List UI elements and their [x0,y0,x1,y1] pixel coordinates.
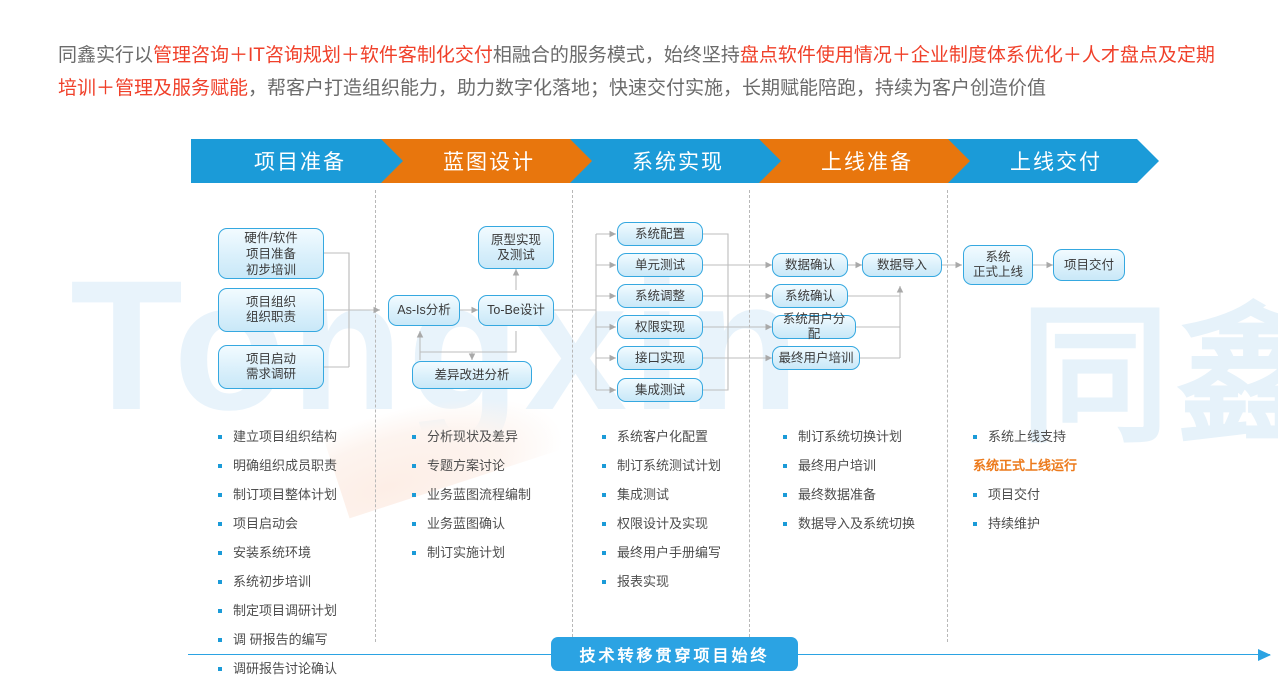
list-item: 制订系统切换计划 [783,428,915,445]
node-project-organization[interactable]: 项目组织 组织职责 [218,288,324,332]
list-item: 最终数据准备 [783,486,915,503]
list-item: 最终用户手册编写 [602,544,721,561]
node-line: 差异改进分析 [430,368,513,383]
node-system-configuration[interactable]: 系统配置 [617,222,703,246]
list-item: 项目启动会 [218,515,337,532]
phase-chevron-label: 系统实现 [626,146,724,176]
list-item-label: 制订系统切换计划 [798,428,902,445]
node-line: 初步培训 [244,262,297,278]
bullet-square-icon [602,493,606,497]
list-item-label: 制订系统测试计划 [617,457,721,474]
node-integration-test[interactable]: 集成测试 [617,378,703,402]
node-as-is-analysis[interactable]: As-Is分析 [388,295,460,326]
node-line: 需求调研 [246,367,296,382]
deliverables-list-col5: 系统上线支持系统正式上线运行项目交付持续维护 [973,428,1077,544]
list-item: 项目交付 [973,486,1077,503]
list-item-label: 项目交付 [988,486,1040,503]
list-item-label: 专题方案讨论 [427,457,505,474]
list-item: 系统正式上线运行 [973,457,1077,474]
node-line: 数据导入 [873,258,931,273]
bullet-square-icon [412,551,416,555]
bullet-square-icon [783,522,787,526]
node-line: 接口实现 [631,351,689,366]
phase-chevron-label: 蓝图设计 [437,146,535,176]
bullet-square-icon [412,435,416,439]
list-item: 集成测试 [602,486,721,503]
node-system-user-assignment[interactable]: 系统用户分配 [772,315,856,339]
intro-segment-1: 同鑫实行以 [58,45,153,66]
node-line: 系统 [973,250,1023,265]
list-item: 安装系统环境 [218,544,337,561]
bullet-square-icon [218,638,222,642]
column-divider-1 [375,190,376,642]
list-item-label: 调研报告讨论确认 [233,660,337,677]
list-item: 调研报告讨论确认 [218,660,337,677]
bullet-square-icon [218,464,222,468]
list-item: 明确组织成员职责 [218,457,337,474]
intro-paragraph: 同鑫实行以管理咨询＋IT咨询规划＋软件客制化交付相融合的服务模式，始终坚持盘点软… [58,39,1228,105]
bullet-square-icon [973,493,977,497]
node-data-import[interactable]: 数据导入 [862,253,942,277]
node-project-delivery[interactable]: 项目交付 [1053,249,1125,281]
list-item: 制订系统测试计划 [602,457,721,474]
technology-transfer-label: 技术转移贯穿项目始终 [551,637,798,671]
phase-banner: 项目准备蓝图设计系统实现上线准备上线交付 [191,139,1192,183]
node-to-be-design[interactable]: To-Be设计 [478,295,554,326]
node-line: 系统用户分配 [773,312,855,342]
node-gap-improvement-analysis[interactable]: 差异改进分析 [412,361,532,389]
phase-chevron-4[interactable]: 上线准备 [758,139,970,183]
list-item-label: 业务蓝图确认 [427,515,505,532]
list-item: 最终用户培训 [783,457,915,474]
intro-highlight-1: 管理咨询＋IT咨询规划＋软件客制化交付 [153,45,493,66]
deliverables-list-col2: 分析现状及差异专题方案讨论业务蓝图流程编制业务蓝图确认制订实施计划 [412,428,531,573]
column-divider-4 [947,190,948,642]
node-line: 系统确认 [781,289,839,304]
list-item: 制定项目调研计划 [218,602,337,619]
bullet-square-icon [783,435,787,439]
list-item-label: 权限设计及实现 [617,515,708,532]
list-item-label: 分析现状及差异 [427,428,518,445]
phase-chevron-label: 上线交付 [1004,146,1102,176]
bullet-square-icon [218,551,222,555]
list-item-label: 最终数据准备 [798,486,876,503]
list-item: 数据导入及系统切换 [783,515,915,532]
node-system-confirmation[interactable]: 系统确认 [772,284,848,308]
list-item: 调 研报告的编写 [218,631,337,648]
node-line: 项目组织 [246,295,296,310]
node-unit-test[interactable]: 单元测试 [617,253,703,277]
list-item: 建立项目组织结构 [218,428,337,445]
list-item-label: 建立项目组织结构 [233,428,337,445]
node-line: 项目交付 [1060,258,1118,273]
phase-chevron-5[interactable]: 上线交付 [947,139,1159,183]
phase-chevron-3[interactable]: 系统实现 [569,139,781,183]
list-item: 系统初步培训 [218,573,337,590]
node-line: 集成测试 [631,383,689,398]
node-line: As-Is分析 [393,303,454,318]
bullet-square-icon [783,493,787,497]
phase-chevron-label: 项目准备 [248,146,346,176]
bullet-square-icon [602,580,606,584]
node-interface-implementation[interactable]: 接口实现 [617,346,703,370]
list-item-label: 制订项目整体计划 [233,486,337,503]
list-item-label: 调 研报告的编写 [233,631,328,648]
node-hardware-software-prep[interactable]: 硬件/软件 项目准备 初步培训 [218,228,324,279]
node-line: 正式上线 [973,265,1023,280]
node-line: 系统调整 [631,289,689,304]
list-item-label: 业务蓝图流程编制 [427,486,531,503]
phase-chevron-label: 上线准备 [815,146,913,176]
node-line: 及测试 [491,248,541,263]
column-divider-2 [572,190,573,642]
list-item: 制订实施计划 [412,544,531,561]
bullet-square-icon [412,493,416,497]
node-line: 数据确认 [781,258,839,273]
bullet-square-icon [973,522,977,526]
list-item: 系统客户化配置 [602,428,721,445]
bullet-square-icon [218,435,222,439]
list-item: 专题方案讨论 [412,457,531,474]
list-item: 分析现状及差异 [412,428,531,445]
bullet-square-icon [412,522,416,526]
bullet-square-icon [783,464,787,468]
bullet-square-icon [218,493,222,497]
list-item-label: 最终用户培训 [798,457,876,474]
bullet-square-icon [412,464,416,468]
intro-segment-2: 相融合的服务模式，始终坚持 [493,45,740,66]
column-divider-3 [749,190,750,642]
list-item-label: 安装系统环境 [233,544,311,561]
node-data-confirmation[interactable]: 数据确认 [772,253,848,277]
list-item: 业务蓝图流程编制 [412,486,531,503]
node-system-go-live[interactable]: 系统 正式上线 [963,245,1033,285]
node-line: 组织职责 [246,310,296,325]
bullet-square-icon [218,667,222,671]
node-line: 系统配置 [631,227,689,242]
node-permission-implementation[interactable]: 权限实现 [617,315,703,339]
list-item: 制订项目整体计划 [218,486,337,503]
bullet-square-icon [218,580,222,584]
node-system-adjustment[interactable]: 系统调整 [617,284,703,308]
node-line: 硬件/软件 [244,230,297,246]
node-prototype-and-test[interactable]: 原型实现 及测试 [478,226,554,269]
list-item-label: 明确组织成员职责 [233,457,337,474]
deliverables-list-col3: 系统客户化配置制订系统测试计划集成测试权限设计及实现最终用户手册编写报表实现 [602,428,721,602]
list-item: 权限设计及实现 [602,515,721,532]
list-item-label: 系统正式上线运行 [973,457,1077,474]
list-item: 业务蓝图确认 [412,515,531,532]
list-item-label: 报表实现 [617,573,669,590]
intro-segment-3: ，帮客户打造组织能力，助力数字化落地；快速交付实施，长期赋能陪跑，持续为客户创造… [248,78,1046,99]
phase-chevron-2[interactable]: 蓝图设计 [380,139,592,183]
list-item: 报表实现 [602,573,721,590]
list-item-label: 系统客户化配置 [617,428,708,445]
list-item-label: 系统上线支持 [988,428,1066,445]
node-line: 原型实现 [491,233,541,248]
list-item-label: 制定项目调研计划 [233,602,337,619]
node-line: 权限实现 [631,320,689,335]
list-item-label: 持续维护 [988,515,1040,532]
bullet-square-icon [602,551,606,555]
bullet-square-icon [218,609,222,613]
bullet-square-icon [973,435,977,439]
node-line: 单元测试 [631,258,689,273]
list-item: 持续维护 [973,515,1077,532]
list-item: 系统上线支持 [973,428,1077,445]
list-item-label: 项目启动会 [233,515,298,532]
node-final-user-training[interactable]: 最终用户培训 [772,346,860,370]
list-item-label: 数据导入及系统切换 [798,515,915,532]
bullet-square-icon [602,435,606,439]
list-item-label: 最终用户手册编写 [617,544,721,561]
deliverables-list-col1: 建立项目组织结构明确组织成员职责制订项目整体计划项目启动会安装系统环境系统初步培… [218,428,337,689]
arrow-head-icon [1258,649,1271,661]
bullet-square-icon [218,522,222,526]
list-item-label: 制订实施计划 [427,544,505,561]
deliverables-list-col4: 制订系统切换计划最终用户培训最终数据准备数据导入及系统切换 [783,428,915,544]
bullet-square-icon [602,522,606,526]
node-project-kickoff[interactable]: 项目启动 需求调研 [218,345,324,389]
node-line: 项目准备 [244,246,297,262]
bullet-square-icon [602,464,606,468]
node-line: To-Be设计 [483,303,549,318]
node-line: 项目启动 [246,352,296,367]
phase-chevron-1[interactable]: 项目准备 [191,139,403,183]
node-line: 最终用户培训 [774,351,857,366]
list-item-label: 系统初步培训 [233,573,311,590]
list-item-label: 集成测试 [617,486,669,503]
